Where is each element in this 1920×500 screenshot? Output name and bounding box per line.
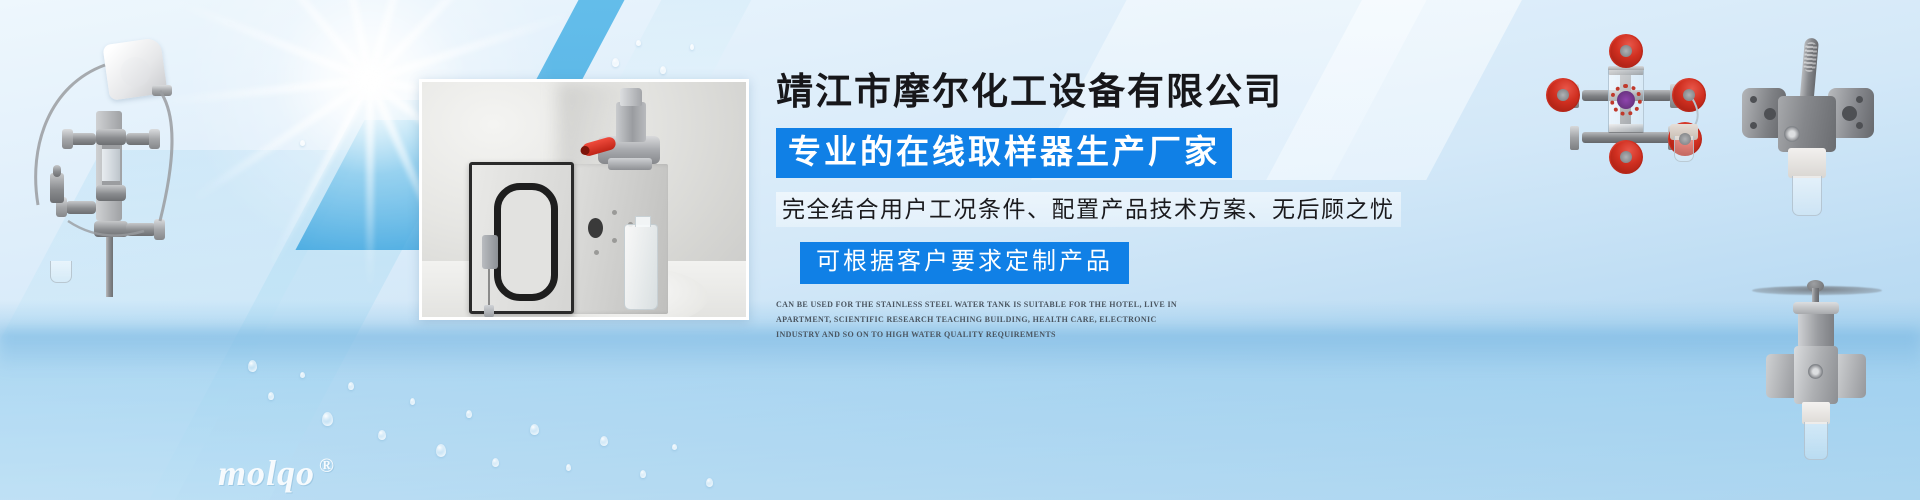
droplet-icon (248, 360, 257, 372)
tubing-icon (10, 25, 185, 300)
droplet-icon (436, 444, 446, 457)
gate-valve-image (1760, 280, 1870, 480)
droplet-icon (566, 464, 571, 471)
headline-text: 专业的在线取样器生产厂家 (788, 133, 1220, 171)
droplet-icon (268, 392, 274, 400)
droplet-icon (300, 372, 305, 378)
english-description: Can be used for the stainless steel wate… (776, 298, 1196, 342)
droplet-icon (322, 412, 333, 426)
registered-mark-icon: ® (319, 455, 335, 477)
promo-banner: 靖江市摩尔化工设备有限公司 专业的在线取样器生产厂家 完全结合用户工况条件、配置… (0, 0, 1920, 500)
droplet-icon (410, 398, 415, 405)
brand-watermark: molqo® (218, 452, 335, 494)
product-photo (419, 79, 749, 320)
left-machine-image (10, 25, 185, 300)
droplet-icon (492, 458, 499, 467)
droplet-icon (636, 40, 641, 46)
droplet-icon (600, 436, 608, 446)
droplet-icon (300, 140, 305, 146)
droplet-icon (706, 478, 713, 487)
subline-text: 完全结合用户工况条件、配置产品技术方案、无后顾之忧 (776, 192, 1401, 227)
droplet-icon (378, 430, 386, 440)
headline-banner: 专业的在线取样器生产厂家 (776, 128, 1232, 178)
watermark-text: molqo (218, 453, 315, 493)
droplet-icon (612, 58, 619, 67)
cross-valve-image (1546, 40, 1706, 170)
droplet-icon (672, 444, 677, 450)
cta-banner[interactable]: 可根据客户要求定制产品 (800, 242, 1129, 285)
headline-text-block: 靖江市摩尔化工设备有限公司 专业的在线取样器生产厂家 完全结合用户工况条件、配置… (776, 72, 1396, 343)
droplet-icon (530, 424, 539, 435)
valve-head-icon (590, 88, 668, 172)
droplet-icon (348, 382, 354, 390)
lever-valve-image (1740, 40, 1880, 220)
droplet-icon (690, 44, 694, 50)
company-name: 靖江市摩尔化工设备有限公司 (776, 72, 1396, 115)
droplet-icon (640, 470, 646, 478)
cta-text: 可根据客户要求定制产品 (816, 248, 1113, 277)
droplet-icon (466, 410, 472, 418)
droplet-icon (660, 66, 666, 74)
